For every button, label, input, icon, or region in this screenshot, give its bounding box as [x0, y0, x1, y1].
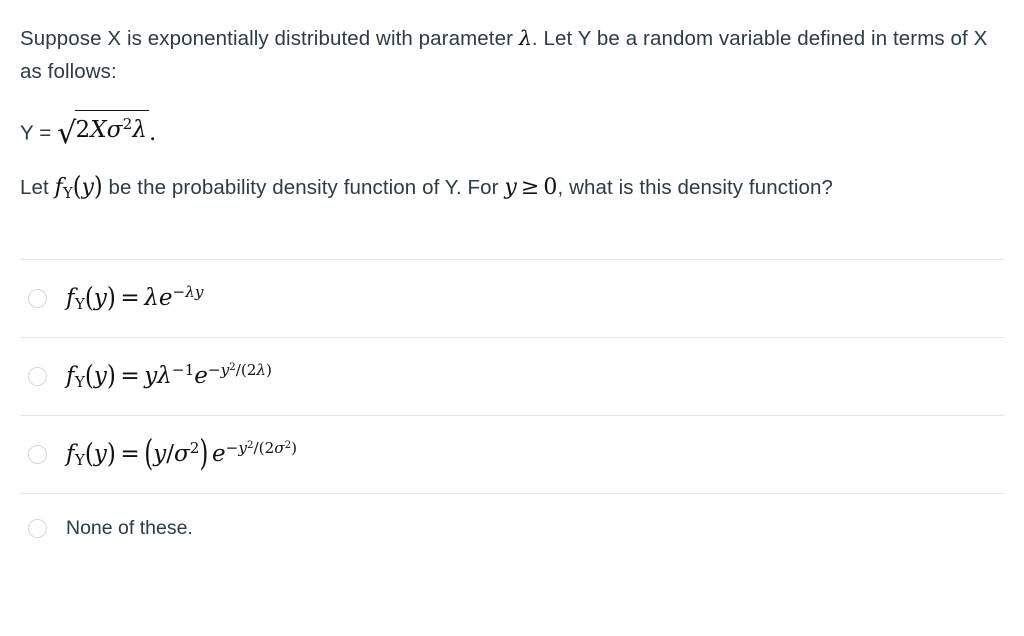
option3-group-paren-close: ) — [199, 434, 208, 474]
option2-exponent: −y2/(2λ) — [208, 361, 272, 379]
option2-equals: = — [116, 363, 144, 389]
option3-group-y: y — [153, 441, 166, 467]
radio-button-option-2[interactable] — [28, 367, 47, 386]
answer-option-1[interactable]: fY(y)=λe−λy — [20, 259, 1005, 337]
option2-exp-minus: − — [208, 361, 221, 379]
answer-option-3[interactable]: fY(y)=(y/σ2)e−y2/(2σ2) — [20, 415, 1005, 493]
option1-paren-open: ( — [85, 282, 94, 313]
option2-exp-two: 2 — [247, 361, 257, 379]
question-text-part-4: be the probability density function of Y… — [103, 176, 505, 199]
paren-open: ( — [73, 167, 82, 209]
answer-options-list: fY(y)=λe−λy fY(y)=yλ−1e−y2/(2λ) fY(y)=(y… — [0, 259, 1024, 563]
option3-group-paren-open: ( — [144, 434, 153, 474]
radicand: 2Xσ2λ — [75, 110, 149, 149]
radicand-lambda: λ — [132, 117, 147, 143]
option2-f: f — [66, 363, 75, 389]
answer-option-4-label: None of these. — [66, 517, 193, 540]
f-symbol: f — [55, 175, 63, 200]
zero-value: 0 — [543, 175, 557, 200]
question-text-part-5: , what is this density function? — [557, 176, 833, 199]
option2-y: y — [144, 363, 157, 389]
equation-prefix: Y = — [20, 122, 51, 145]
radicand-X: X — [90, 117, 106, 143]
option2-paren-open: ( — [85, 361, 94, 392]
equation-math: √2Xσ2λ. — [57, 120, 156, 146]
option2-exp-y: y — [221, 361, 230, 379]
option2-paren-close: ) — [107, 361, 116, 392]
option1-exponent: −λy — [172, 283, 203, 301]
answer-option-2-formula: fY(y)=yλ−1e−y2/(2λ) — [66, 361, 272, 391]
option1-exp-y: y — [195, 283, 204, 301]
option2-exp-paren-close: ) — [266, 361, 272, 379]
paren-close: ) — [94, 167, 103, 209]
radio-button-option-1[interactable] — [28, 289, 47, 308]
question-paragraph-3: Let fY(y) be the probability density fun… — [20, 170, 1004, 207]
option3-f: f — [66, 441, 75, 467]
option3-paren-open: ( — [85, 439, 94, 470]
question-text-part-3: Let — [20, 176, 55, 199]
option2-exp-lambda: λ — [256, 361, 266, 379]
square-root: √2Xσ2λ — [57, 110, 149, 152]
f-subscript-Y: Y — [63, 186, 73, 202]
option2-lambda-exponent: −1 — [172, 361, 194, 379]
option1-lambda: λ — [144, 285, 159, 311]
question-paragraph-1: Suppose X is exponentially distributed w… — [20, 22, 1004, 88]
option3-exp-sigma: σ — [274, 439, 284, 457]
option3-e: e — [208, 441, 225, 467]
y-geq-zero: y≥0 — [504, 175, 557, 200]
question-text-part-1: Suppose X is exponentially distributed w… — [20, 27, 519, 50]
question-body: Suppose X is exponentially distributed w… — [0, 0, 1024, 207]
option1-f: f — [66, 285, 75, 311]
answer-option-2[interactable]: fY(y)=yλ−1e−y2/(2λ) — [20, 337, 1005, 415]
option3-exponent: −y2/(2σ2) — [226, 439, 297, 457]
fY-of-y-inline: fY(y) — [55, 175, 103, 200]
option3-equals: = — [116, 441, 144, 467]
option1-paren-close: ) — [107, 282, 116, 313]
option3-group-slash: / — [166, 441, 174, 467]
answer-option-1-formula: fY(y)=λe−λy — [66, 283, 203, 313]
radicand-sigma: σ — [107, 117, 123, 143]
answer-option-3-formula: fY(y)=(y/σ2)e−y2/(2σ2) — [66, 439, 297, 469]
option1-exp-minus: − — [172, 283, 185, 301]
option3-f-subscript: Y — [75, 451, 85, 469]
geq-symbol: ≥ — [517, 175, 543, 200]
option3-exp-y: y — [238, 439, 247, 457]
option1-f-subscript: Y — [75, 295, 85, 313]
option2-f-subscript: Y — [75, 373, 85, 391]
equation-period: . — [149, 120, 156, 146]
variable-y-2: y — [504, 175, 517, 200]
option3-group-sigma: σ — [174, 441, 190, 467]
radio-button-option-3[interactable] — [28, 445, 47, 464]
radicand-sigma-exponent: 2 — [123, 116, 133, 134]
radicand-coefficient: 2 — [76, 117, 91, 143]
lambda-symbol: λ — [519, 26, 532, 50]
radio-button-option-4[interactable] — [28, 519, 47, 538]
option2-lambda: λ — [157, 363, 172, 389]
question-equation: Y = √2Xσ2λ. — [20, 110, 1004, 152]
option1-exp-lambda: λ — [185, 283, 195, 301]
option2-e: e — [194, 363, 208, 389]
answer-option-4[interactable]: None of these. — [20, 493, 1005, 563]
variable-y: y — [82, 175, 95, 200]
option3-exp-minus: − — [226, 439, 239, 457]
option1-arg: y — [94, 285, 107, 311]
option3-exp-paren-close: ) — [291, 439, 297, 457]
option3-group-sigma-power: 2 — [190, 439, 200, 457]
option1-equals: = — [116, 285, 144, 311]
option3-arg: y — [94, 441, 107, 467]
option3-exp-two: 2 — [265, 439, 275, 457]
option2-arg: y — [94, 363, 107, 389]
option3-paren-close: ) — [107, 439, 116, 470]
option1-e: e — [159, 285, 173, 311]
